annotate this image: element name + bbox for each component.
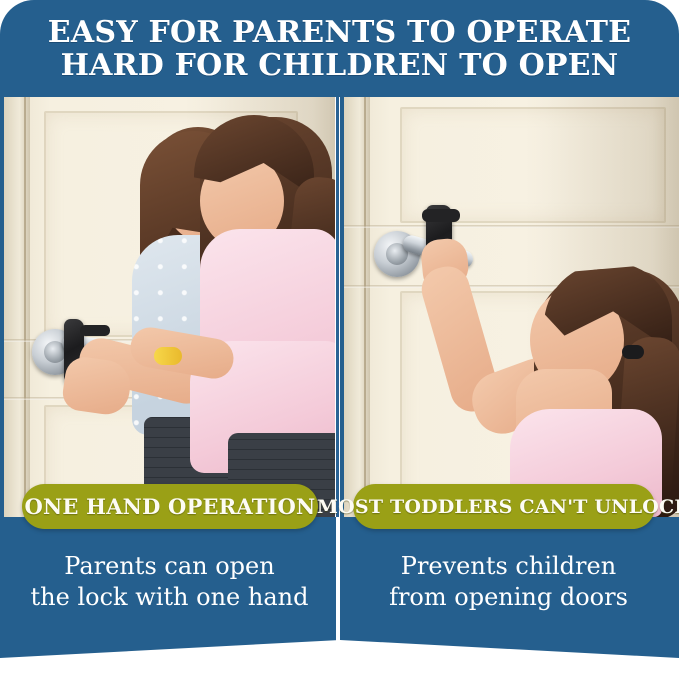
lock-top-tab-left <box>80 325 110 336</box>
child-hair-tie-right <box>622 345 644 359</box>
product-infographic: EASY FOR PARENTS TO OPERATE HARD FOR CHI… <box>0 0 679 679</box>
lock-top-tab-right <box>422 209 460 222</box>
badge-left-label: ONE HAND OPERATION <box>25 494 316 519</box>
header-title-line-2: HARD FOR CHILDREN TO OPEN <box>61 49 619 82</box>
caption-right-line-1: Prevents children <box>401 551 616 582</box>
header-banner: EASY FOR PARENTS TO OPERATE HARD FOR CHI… <box>0 0 679 97</box>
door-jamb-right <box>344 97 370 517</box>
panel-divider-top <box>335 97 340 517</box>
door-jamb-left <box>4 97 30 517</box>
caption-right-line-2: from opening doors <box>389 582 628 613</box>
child-bracelet-left <box>154 347 182 365</box>
caption-right: Prevents children from opening doors <box>339 529 678 649</box>
badge-one-hand-operation[interactable]: ONE HAND OPERATION <box>22 484 318 529</box>
photo-left-one-hand-operation <box>4 97 339 517</box>
caption-left: Parents can open the lock with one hand <box>0 529 339 649</box>
photo-right-toddlers-cant-unlock <box>344 97 679 517</box>
panel-divider-bottom <box>336 517 340 650</box>
caption-left-line-2: the lock with one hand <box>31 582 309 613</box>
badge-right-label: MOST TODDLERS CAN'T UNLOCK <box>317 496 679 518</box>
header-title-line-1: EASY FOR PARENTS TO OPERATE <box>48 16 631 49</box>
caption-left-line-1: Parents can open <box>64 551 274 582</box>
badge-most-toddlers-cant-unlock[interactable]: MOST TODDLERS CAN'T UNLOCK <box>353 484 655 529</box>
